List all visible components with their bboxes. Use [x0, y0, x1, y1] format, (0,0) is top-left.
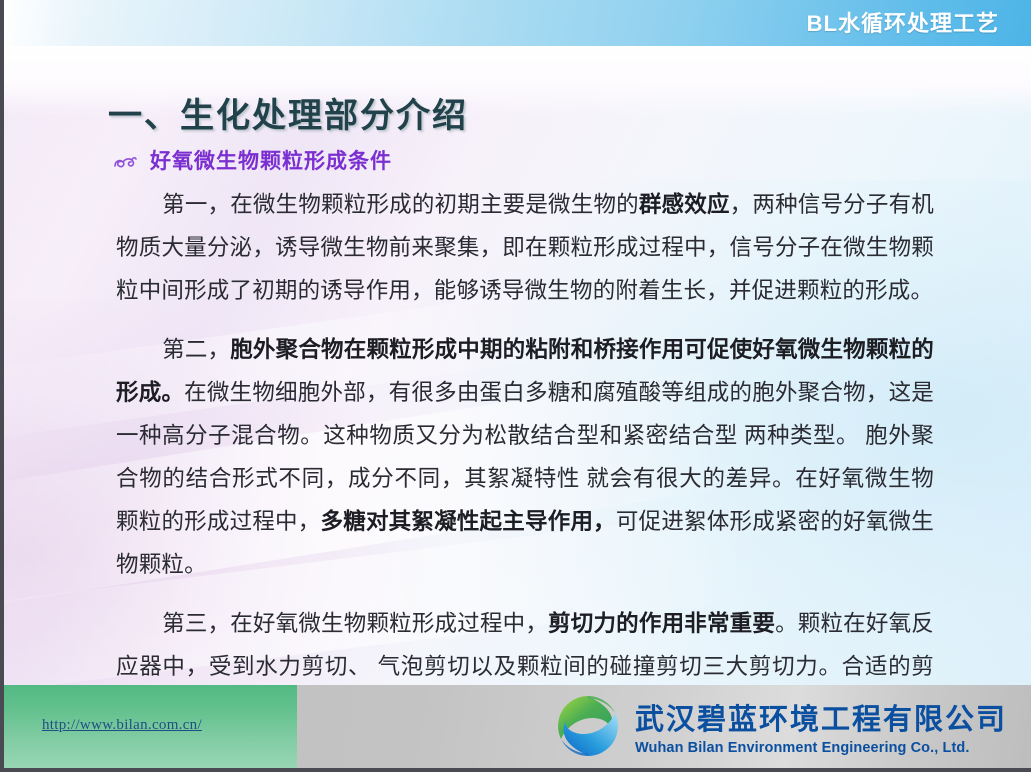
subheading: 好氧微生物颗粒形成条件	[112, 145, 392, 175]
page-title: 一、生化处理部分介绍	[108, 88, 468, 137]
scroll-swirl-icon	[112, 151, 138, 173]
presentation-slide: BL水循环处理工艺 一、生化处理部分介绍 好氧微生物颗粒形成条件 第一，在微生物…	[0, 0, 1031, 772]
company-name-cn: 武汉碧蓝环境工程有限公司	[635, 696, 1007, 738]
website-url-link[interactable]: http://www.bilan.com.cn/	[42, 717, 202, 734]
paragraph-first: 第一，在微生物颗粒形成的初期主要是微生物的群感效应，两种信号分子有机物质大量分泌…	[116, 183, 934, 312]
bilan-circular-swirl-logo-icon	[555, 693, 621, 759]
paragraph-second: 第二，胞外聚合物在颗粒形成中期的粘附和桥接作用可促使好氧微生物颗粒的形成。在微生…	[116, 328, 934, 586]
company-branding: 武汉碧蓝环境工程有限公司 Wuhan Bilan Environment Eng…	[555, 693, 1007, 759]
slide-header-bar: BL水循环处理工艺	[4, 0, 1031, 46]
subheading-label: 好氧微生物颗粒形成条件	[150, 145, 392, 175]
company-name-en: Wuhan Bilan Environment Engineering Co.,…	[635, 740, 1007, 756]
header-title: BL水循环处理工艺	[807, 6, 999, 38]
slide-body: 第一，在微生物颗粒形成的初期主要是微生物的群感效应，两种信号分子有机物质大量分泌…	[116, 183, 934, 731]
slide-footer: http://www.bilan.com.cn/	[4, 685, 1031, 768]
company-name-group: 武汉碧蓝环境工程有限公司 Wuhan Bilan Environment Eng…	[635, 696, 1007, 756]
